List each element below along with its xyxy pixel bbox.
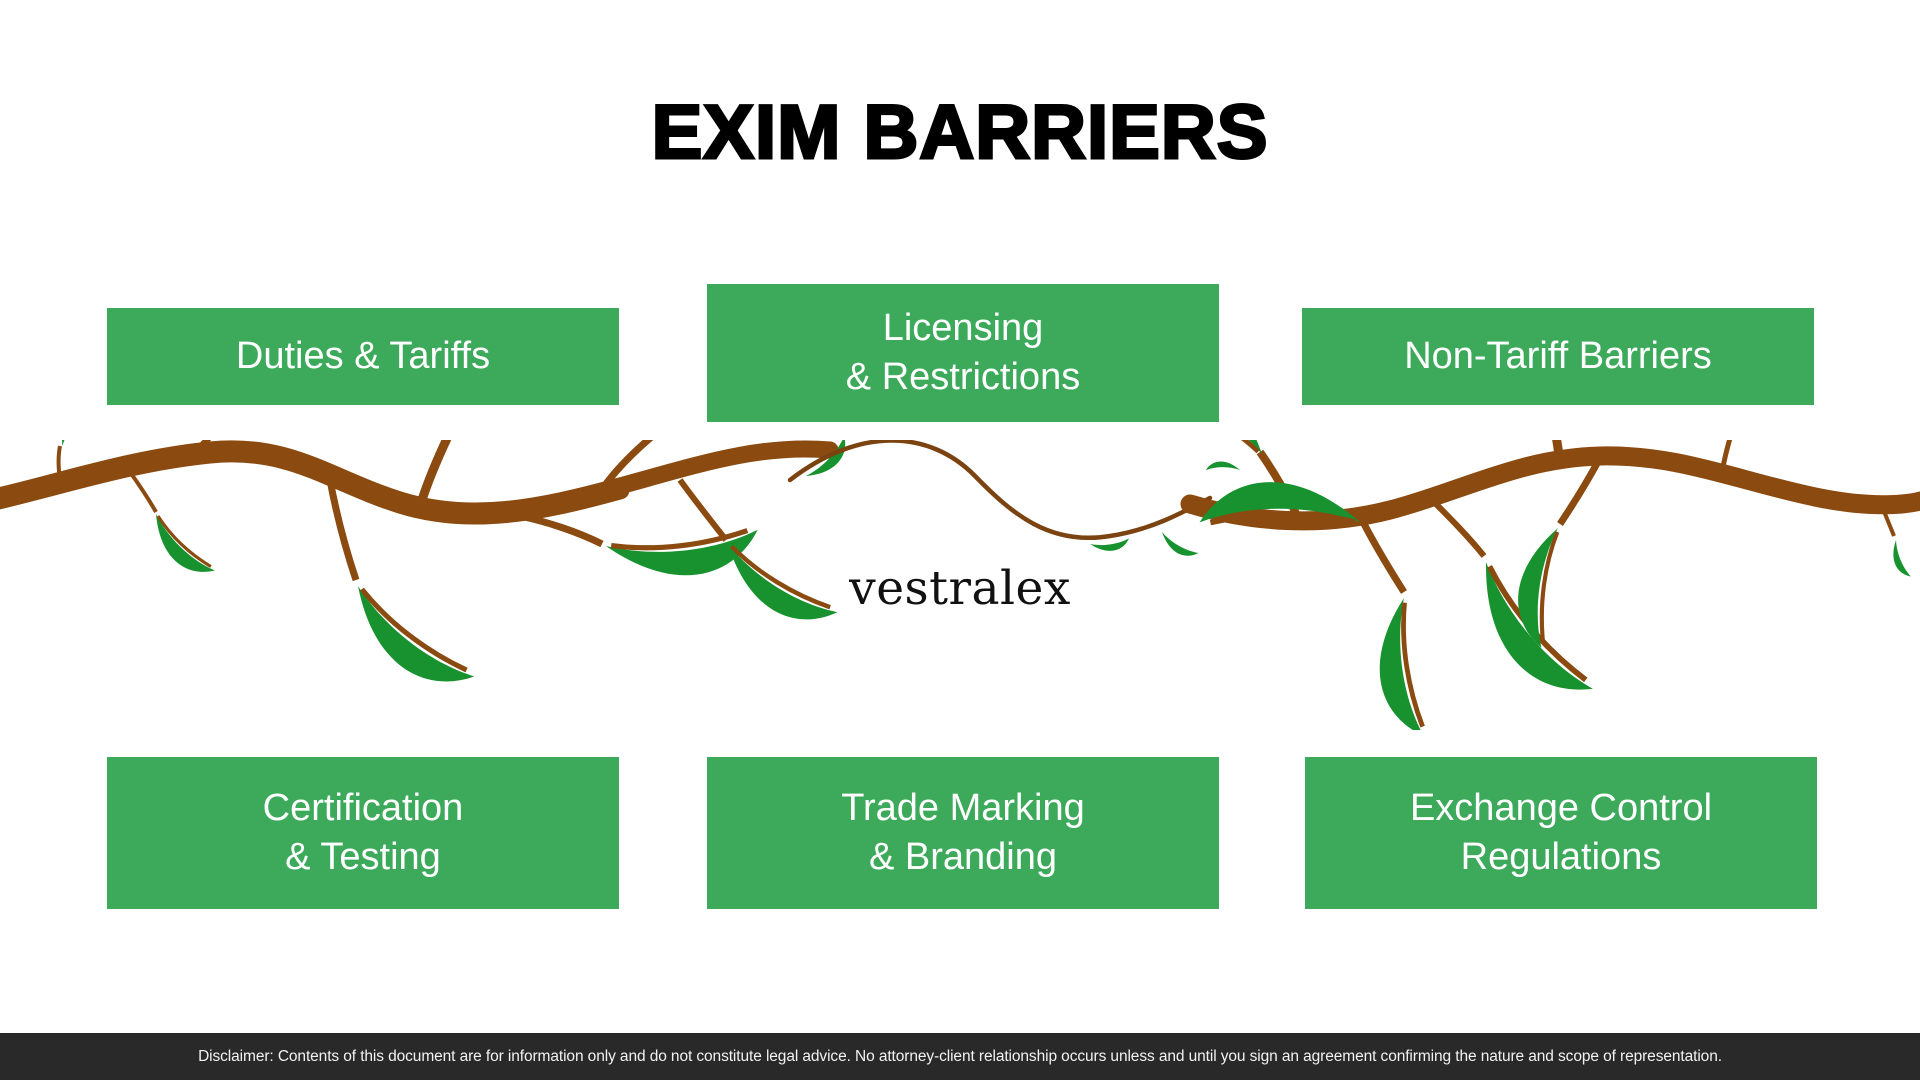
branch-right-graphic <box>1146 440 1920 730</box>
barrier-card-trade-marking-branding[interactable]: Trade Marking & Branding <box>707 757 1219 909</box>
barrier-card-licensing-restrictions[interactable]: Licensing & Restrictions <box>707 284 1219 422</box>
branch-left-graphic <box>0 440 853 707</box>
barrier-card-non-tariff-barriers[interactable]: Non-Tariff Barriers <box>1302 308 1814 405</box>
slide-canvas: EXIM BARRIERS Duties & Tariffs Licensing… <box>0 0 1920 1080</box>
barrier-card-label: Duties & Tariffs <box>236 332 490 381</box>
barrier-card-certification-testing[interactable]: Certification & Testing <box>107 757 619 909</box>
leafy-branch-divider <box>0 440 1920 730</box>
disclaimer-bar: Disclaimer: Contents of this document ar… <box>0 1033 1920 1080</box>
barrier-card-exchange-control-regulations[interactable]: Exchange Control Regulations <box>1305 757 1817 909</box>
branch-center-graphic <box>790 440 1210 564</box>
barrier-card-label: Licensing & Restrictions <box>846 304 1080 401</box>
page-title: EXIM BARRIERS <box>0 95 1920 171</box>
barrier-card-label: Exchange Control Regulations <box>1410 784 1712 881</box>
barrier-card-label: Non-Tariff Barriers <box>1404 332 1712 381</box>
barrier-card-label: Certification & Testing <box>263 784 464 881</box>
barrier-card-label: Trade Marking & Branding <box>841 784 1085 881</box>
disclaimer-text: Disclaimer: Contents of this document ar… <box>198 1048 1722 1066</box>
barrier-card-duties-tariffs[interactable]: Duties & Tariffs <box>107 308 619 405</box>
